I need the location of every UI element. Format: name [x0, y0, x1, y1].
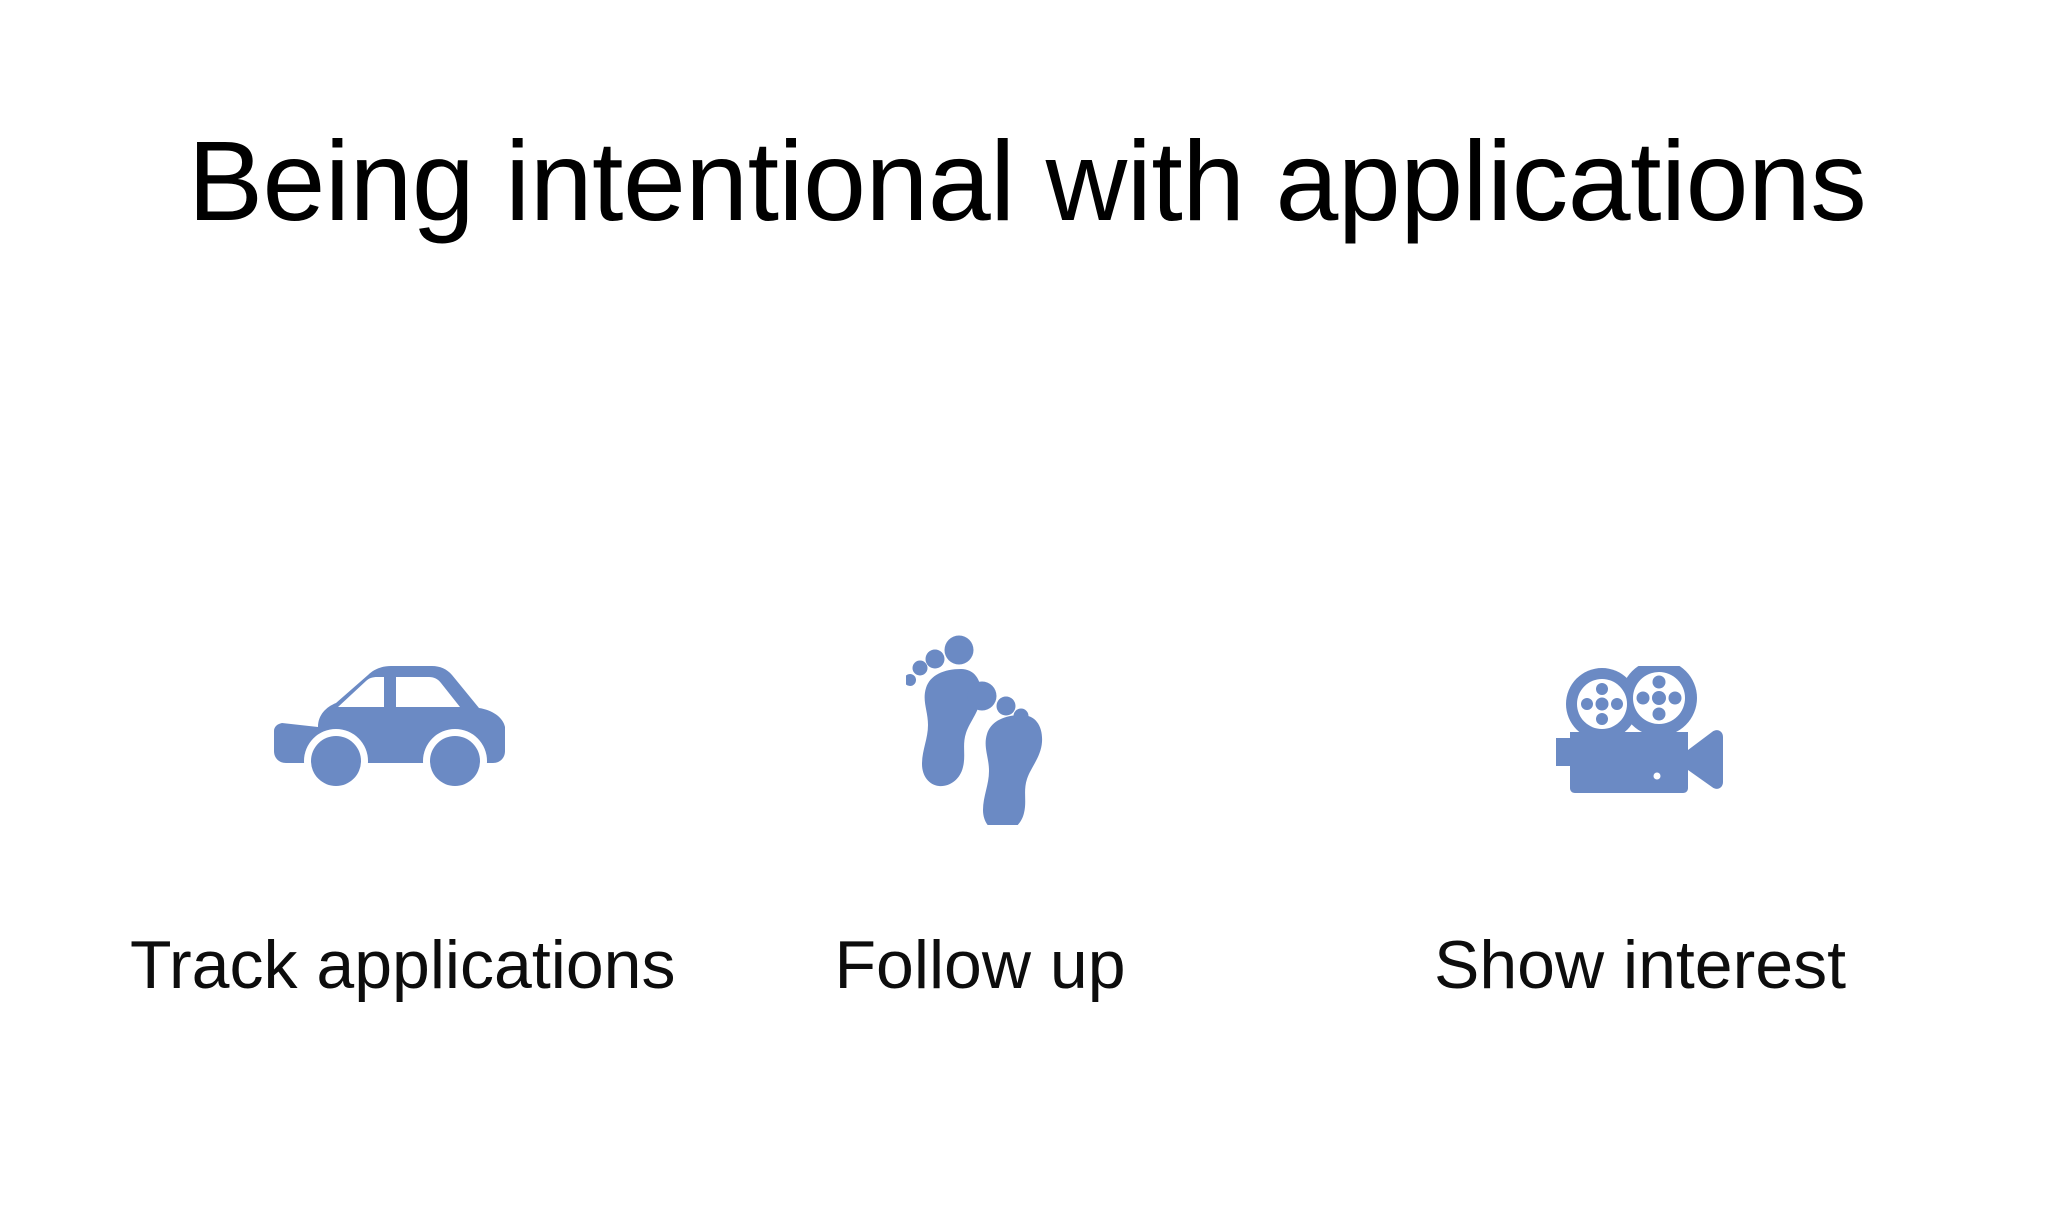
page-title: Being intentional with applications — [0, 118, 2054, 245]
slide-item-follow-up: Follow up — [720, 600, 1240, 1070]
slide-item-show-interest: Show interest — [1400, 600, 1880, 1070]
footprints-icon — [720, 600, 1240, 860]
slide-item-label: Show interest — [1400, 930, 1880, 1001]
presentation-slide: Being intentional with applications — [0, 0, 2054, 1218]
icon-row: Track applications — [0, 600, 2054, 1070]
car-icon — [130, 600, 650, 860]
movie-camera-icon — [1400, 600, 1880, 860]
slide-item-label: Follow up — [720, 930, 1240, 1001]
slide-item-label: Track applications — [130, 930, 650, 1001]
slide-item-track-applications: Track applications — [130, 600, 650, 1070]
